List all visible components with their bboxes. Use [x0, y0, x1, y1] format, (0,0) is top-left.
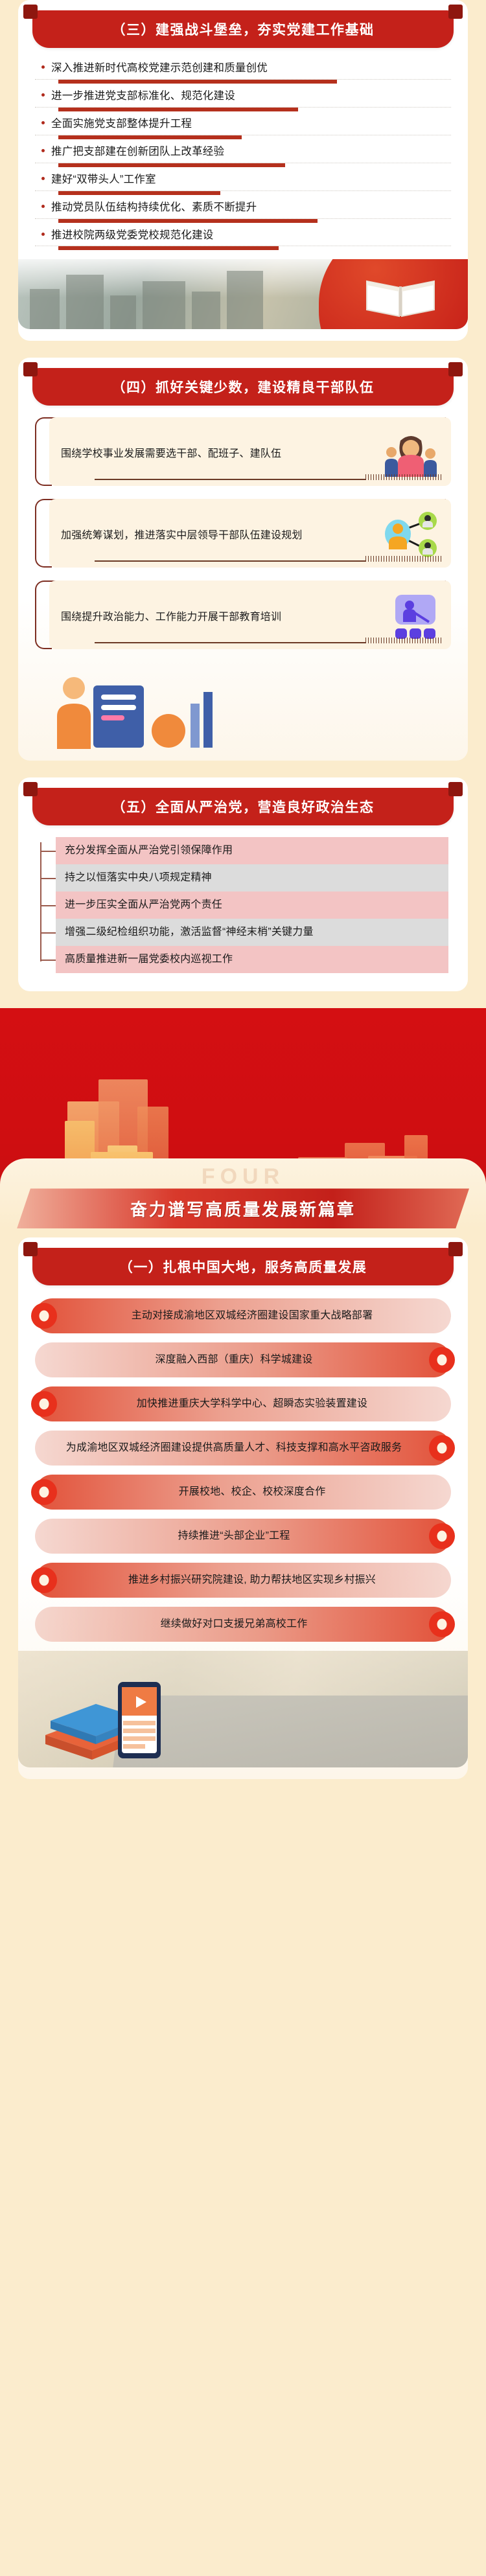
- pill-body: 推进乡村振兴研究院建设, 助力帮扶地区实现乡村振兴: [35, 1563, 451, 1598]
- pill-body: 深度融入西部（重庆）科学城建设: [35, 1342, 451, 1377]
- pill-body: 持续推进“头部企业”工程: [35, 1519, 451, 1554]
- section-one-pill-list: 主动对接成渝地区双城经济圈建设国家重大战略部署深度融入西部（重庆）科学城建设加快…: [18, 1285, 468, 1642]
- section-five-ribbon-wrap: （五）全面从严治党，营造良好政治生态: [32, 777, 454, 825]
- training-classroom-icon: [384, 593, 439, 640]
- section-one-title: （一）扎根中国大地，服务高质量发展: [119, 1257, 367, 1276]
- banner-watermark: FOUR: [0, 1164, 486, 1190]
- section-five-ribbon: （五）全面从严治党，营造良好政治生态: [32, 788, 454, 825]
- section-five: （五）全面从严治党，营造良好政治生态 充分发挥全面从严治党引领保障作用持之以恒落…: [0, 777, 486, 991]
- bullet-item: 建好“双带头人”工作室: [35, 170, 451, 198]
- pill-ring-icon: [31, 1567, 57, 1593]
- stripe-spine: [40, 842, 41, 961]
- org-network-icon: [384, 512, 439, 558]
- bullet-line: 建好“双带头人”工作室: [35, 170, 451, 189]
- section-one-panel: （一）扎根中国大地，服务高质量发展 主动对接成渝地区双城经济圈建设国家重大战略部…: [18, 1237, 468, 1779]
- section-five-row-list: 充分发挥全面从严治党引领保障作用持之以恒落实中央八项规定精神进一步压实全面从严治…: [18, 825, 468, 980]
- bullet-line: 推动党员队伍结构持续优化、素质不断提升: [35, 198, 451, 217]
- section-four-ribbon: （四）抓好关键少数，建设精良干部队伍: [32, 368, 454, 406]
- section-one-ribbon: （一）扎根中国大地，服务高质量发展: [32, 1248, 454, 1285]
- bullet-line: 推广把支部建在创新团队上改革经验: [35, 142, 451, 161]
- pill-ring-icon: [31, 1479, 57, 1505]
- bullet-dot-icon: [41, 149, 45, 152]
- section-four-ribbon-wrap: （四）抓好关键少数，建设精良干部队伍: [32, 358, 454, 406]
- campus-photo-strip: [18, 259, 468, 329]
- card-underline: [95, 638, 442, 643]
- bullet-dot-icon: [41, 205, 45, 208]
- pill-text: 继续做好对口支援兄弟高校工作: [54, 1615, 413, 1634]
- stripe-row: 充分发挥全面从严治党引领保障作用: [56, 837, 448, 864]
- bullet-text: 建好“双带头人”工作室: [51, 172, 156, 188]
- pill-item: 深度融入西部（重庆）科学城建设: [35, 1342, 451, 1377]
- campus-road-photo: [18, 1651, 468, 1767]
- stripe-row: 高质量推进新一届党委校内巡视工作: [56, 946, 448, 973]
- pill-body: 继续做好对口支援兄弟高校工作: [35, 1607, 451, 1642]
- pill-ring-icon: [31, 1303, 57, 1329]
- bullet-item: 全面实施党支部整体提升工程: [35, 114, 451, 142]
- bullet-text: 进一步推进党支部标准化、规范化建设: [51, 89, 235, 104]
- section-five-panel: （五）全面从严治党，营造良好政治生态 充分发挥全面从严治党引领保障作用持之以恒落…: [18, 777, 468, 991]
- stripe-row: 进一步压实全面从严治党两个责任: [56, 891, 448, 919]
- pill-body: 为成渝地区双城经济圈建设提供高质量人才、科技支撑和高水平咨政服务: [35, 1431, 451, 1466]
- pill-ring-icon: [429, 1611, 455, 1637]
- people-group-icon: [384, 430, 439, 477]
- pill-text: 主动对接成渝地区双城经济圈建设国家重大战略部署: [73, 1307, 432, 1326]
- section-four-panel: （四）抓好关键少数，建设精良干部队伍 围绕学校事业发展需要选干部、配班子、建队伍…: [18, 358, 468, 761]
- pill-ring-icon: [31, 1391, 57, 1417]
- card-body: 围绕学校事业发展需要选干部、配班子、建队伍: [49, 417, 451, 486]
- section-one: （一）扎根中国大地，服务高质量发展 主动对接成渝地区双城经济圈建设国家重大战略部…: [0, 1237, 486, 1779]
- pill-text: 开展校地、校企、校校深度合作: [73, 1483, 432, 1502]
- bullet-underline: [35, 218, 451, 223]
- bullet-line: 进一步推进党支部标准化、规范化建设: [35, 86, 451, 106]
- pill-ring-icon: [429, 1523, 455, 1549]
- person-with-document-icon: [31, 666, 226, 749]
- pill-text: 为成渝地区双城经济圈建设提供高质量人才、科技支撑和高水平咨政服务: [54, 1439, 413, 1458]
- pill-item: 持续推进“头部企业”工程: [35, 1519, 451, 1554]
- bullet-underline: [35, 107, 451, 111]
- pill-item: 推进乡村振兴研究院建设, 助力帮扶地区实现乡村振兴: [35, 1563, 451, 1598]
- stripe-row: 增强二级纪检组织功能，激活监督“神经末梢”关键力量: [56, 919, 448, 946]
- bullet-text: 推进校院两级党委党校规范化建设: [51, 228, 214, 244]
- section-three-ribbon-wrap: （三）建强战斗堡垒，夯实党建工作基础: [32, 0, 454, 48]
- open-book-icon: [364, 271, 437, 319]
- section-three-ribbon: （三）建强战斗堡垒，夯实党建工作基础: [32, 10, 454, 48]
- bullet-line: 推进校院两级党委党校规范化建设: [35, 225, 451, 245]
- section-four-title: （四）抓好关键少数，建设精良干部队伍: [112, 377, 375, 397]
- bullet-item: 进一步推进党支部标准化、规范化建设: [35, 86, 451, 114]
- bullet-text: 深入推进新时代高校党建示范创建和质量创优: [51, 61, 268, 76]
- pill-body: 加快推进重庆大学科学中心、超瞬态实验装置建设: [35, 1386, 451, 1421]
- bullet-dot-icon: [41, 233, 45, 236]
- bullet-underline: [35, 163, 451, 167]
- bullet-dot-icon: [41, 65, 45, 69]
- section-three-title: （三）建强战斗堡垒，夯实党建工作基础: [112, 19, 375, 39]
- bullet-dot-icon: [41, 121, 45, 124]
- books-and-phone-icon: [40, 1665, 189, 1762]
- pill-body: 主动对接成渝地区双城经济圈建设国家重大战略部署: [35, 1298, 451, 1333]
- card-text: 加强统筹谋划，推进落实中层领导干部队伍建设规划: [61, 526, 378, 546]
- info-card: 加强统筹谋划，推进落实中层领导干部队伍建设规划: [35, 499, 451, 568]
- bullet-item: 推广把支部建在创新团队上改革经验: [35, 142, 451, 170]
- card-text: 围绕学校事业发展需要选干部、配班子、建队伍: [61, 444, 378, 464]
- section-three-bullet-list: 深入推进新时代高校党建示范创建和质量创优进一步推进党支部标准化、规范化建设全面实…: [18, 48, 468, 257]
- pill-text: 推进乡村振兴研究院建设, 助力帮扶地区实现乡村振兴: [73, 1571, 432, 1590]
- bullet-line: 全面实施党支部整体提升工程: [35, 114, 451, 133]
- pill-body: 开展校地、校企、校校深度合作: [35, 1475, 451, 1510]
- bullet-item: 推动党员队伍结构持续优化、素质不断提升: [35, 198, 451, 225]
- section-one-ribbon-wrap: （一）扎根中国大地，服务高质量发展: [32, 1237, 454, 1285]
- infographic-page: （三）建强战斗堡垒，夯实党建工作基础 深入推进新时代高校党建示范创建和质量创优进…: [0, 0, 486, 1799]
- banner-plate-title: 奋力谱写高质量发展新篇章: [130, 1197, 356, 1221]
- pill-ring-icon: [429, 1435, 455, 1461]
- bullet-item: 深入推进新时代高校党建示范创建和质量创优: [35, 58, 451, 86]
- bullet-item: 推进校院两级党委党校规范化建设: [35, 225, 451, 253]
- bullet-underline: [35, 135, 451, 139]
- info-card: 围绕学校事业发展需要选干部、配班子、建队伍: [35, 417, 451, 486]
- bullet-dot-icon: [41, 93, 45, 97]
- info-card: 围绕提升政治能力、工作能力开展干部教育培训: [35, 581, 451, 649]
- pill-item: 开展校地、校企、校校深度合作: [35, 1475, 451, 1510]
- pill-item: 加快推进重庆大学科学中心、超瞬态实验装置建设: [35, 1386, 451, 1421]
- section-five-title: （五）全面从严治党，营造良好政治生态: [112, 797, 375, 816]
- city-banner: FOUR 奋力谱写高质量发展新篇章: [0, 1008, 486, 1228]
- bullet-dot-icon: [41, 177, 45, 180]
- bullet-text: 推动党员队伍结构持续优化、素质不断提升: [51, 200, 257, 216]
- stripe-row: 持之以恒落实中央八项规定精神: [56, 864, 448, 891]
- card-underline: [95, 557, 442, 562]
- bullet-underline: [35, 246, 451, 250]
- pill-ring-icon: [429, 1347, 455, 1373]
- banner-plate: 奋力谱写高质量发展新篇章: [17, 1188, 469, 1228]
- pill-text: 加快推进重庆大学科学中心、超瞬态实验装置建设: [73, 1395, 432, 1414]
- bullet-line: 深入推进新时代高校党建示范创建和质量创优: [35, 58, 451, 78]
- card-text: 围绕提升政治能力、工作能力开展干部教育培训: [61, 608, 378, 627]
- bullet-text: 推广把支部建在创新团队上改革经验: [51, 144, 224, 160]
- card-body: 加强统筹谋划，推进落实中层领导干部队伍建设规划: [49, 499, 451, 568]
- section-four-card-list: 围绕学校事业发展需要选干部、配班子、建队伍加强统筹谋划，推进落实中层领导干部队伍…: [18, 406, 468, 666]
- pill-text: 持续推进“头部企业”工程: [54, 1527, 413, 1546]
- pill-item: 继续做好对口支援兄弟高校工作: [35, 1607, 451, 1642]
- bullet-underline: [35, 79, 451, 84]
- pill-item: 主动对接成渝地区双城经济圈建设国家重大战略部署: [35, 1298, 451, 1333]
- pill-text: 深度融入西部（重庆）科学城建设: [54, 1351, 413, 1370]
- bullet-text: 全面实施党支部整体提升工程: [51, 117, 192, 132]
- pill-item: 为成渝地区双城经济圈建设提供高质量人才、科技支撑和高水平咨政服务: [35, 1431, 451, 1466]
- section-four: （四）抓好关键少数，建设精良干部队伍 围绕学校事业发展需要选干部、配班子、建队伍…: [0, 358, 486, 761]
- section-three: （三）建强战斗堡垒，夯实党建工作基础 深入推进新时代高校党建示范创建和质量创优进…: [0, 0, 486, 341]
- section-four-decoration: [31, 666, 455, 749]
- bullet-underline: [35, 190, 451, 195]
- card-underline: [95, 475, 442, 480]
- section-three-panel: （三）建强战斗堡垒，夯实党建工作基础 深入推进新时代高校党建示范创建和质量创优进…: [18, 0, 468, 341]
- card-body: 围绕提升政治能力、工作能力开展干部教育培训: [49, 581, 451, 649]
